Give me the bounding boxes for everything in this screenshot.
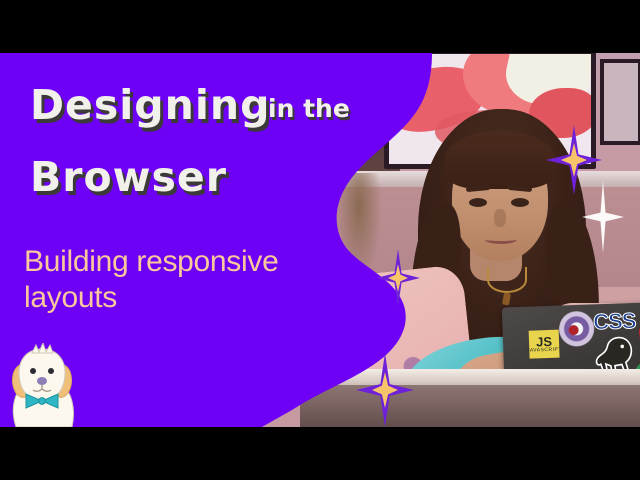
- title-line-1: Designing: [30, 81, 270, 129]
- letterbox-top: [0, 0, 640, 53]
- video-content: JS JAVASCRIPT CSS Erpxlement CENTERED: [0, 53, 640, 427]
- letterbox-bottom: [0, 427, 640, 480]
- title-line-1-suffix: in the: [268, 94, 350, 123]
- subtitle-line-1: Building responsive: [24, 245, 278, 279]
- subtitle-line-2: layouts: [24, 281, 117, 315]
- title-block: Designing in the Browser Building respon…: [0, 53, 640, 427]
- cartoon-dog-mascot-icon: [4, 343, 82, 427]
- title-line-2: Browser: [30, 153, 227, 201]
- video-player-frame: JS JAVASCRIPT CSS Erpxlement CENTERED: [0, 0, 640, 480]
